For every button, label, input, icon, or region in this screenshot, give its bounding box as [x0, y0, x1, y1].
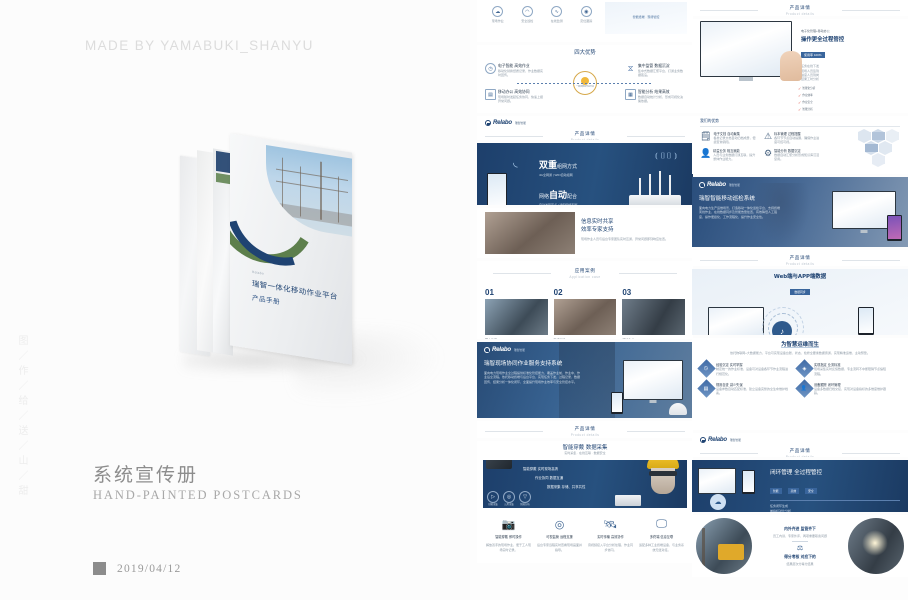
phone-mockup	[858, 307, 874, 335]
monitor-mockup	[698, 468, 736, 494]
why-item: 👤 设备跟踪 闭环管理 设备多数据归档交接，实现对设备指标的多维度维护跟踪。	[798, 382, 888, 396]
advantage-item: ▦ 智能分析 结果高效 数据自动统计分析，形成可视化决策依据。	[625, 89, 685, 104]
hexagon-decoration	[834, 122, 904, 170]
smartwear-title: 智能穿戴 数据采集	[483, 443, 687, 451]
phone-screen	[488, 174, 507, 205]
pin-icon: ◉	[581, 6, 592, 17]
page-section-header-5: Relabo 瑞智智能 产品详情 Product details	[692, 433, 908, 457]
case-photo	[622, 299, 685, 335]
headline-rest: 组网方式	[557, 164, 577, 170]
check-icon: ✓	[798, 93, 801, 98]
realtime-title: 信息实时共享 效率专家支持	[581, 218, 685, 234]
briefcase-icon: ▤	[485, 89, 496, 100]
clock-icon: ◷	[697, 360, 715, 378]
icon-label: 现场作业	[485, 19, 511, 23]
page-realtime: 信息实时共享 效率专家支持 现场作业人员与后台专家团队实时互通，异常问题即刻响应…	[477, 208, 693, 258]
date-text: 2019/04/12	[117, 563, 181, 575]
case-label: 随机巡检	[554, 338, 617, 339]
header-rule-left	[700, 10, 758, 11]
inspection-desc: 面向电力生产运维场景，打造移动一体化巡检平台，支持终端离线作业、在线数据同步及智…	[699, 206, 781, 219]
smartwear-sub: 实时采集 · 在线互联 · 数据安全	[483, 451, 687, 455]
feature-desc: 解放双手的现场作业，便于工人现场实时记录。	[486, 543, 532, 552]
check-icon: ✓	[798, 100, 801, 105]
case-item[interactable]: 02 随机巡检	[554, 288, 617, 339]
header-rule-right	[619, 273, 677, 274]
page-web-app: Web端与APP端数据 数据同步 ♪ 多端互通实时同步	[692, 269, 908, 335]
case-number: 03	[622, 288, 685, 297]
monitor-screen	[833, 192, 895, 228]
smartwear-button-label: 公用采集	[503, 503, 515, 506]
alert-icon: ⚠	[764, 131, 772, 145]
camera-device-icon	[486, 460, 512, 469]
hsse-title: 闭环管理 全过程管控	[770, 468, 900, 476]
headline2-sub: 自动发现节点 | 通知网络配置	[539, 203, 577, 205]
monitor-screen	[701, 22, 791, 76]
why-item: ◈ 实现指定 业务标准 现场采集实时反馈数据，专业流转不中断障碍节点缩短流程。	[798, 362, 888, 376]
router-antenna	[669, 175, 671, 195]
user-icon: 👤	[795, 379, 813, 397]
page-subtitle: HAND-PAINTED POSTCARDS	[93, 488, 303, 503]
feature-title: 多终端 信息互联	[639, 534, 685, 539]
monitor-stand	[650, 400, 657, 403]
router-body	[629, 195, 681, 205]
play-icon[interactable]: ▷	[487, 491, 499, 503]
brand-name: Relabo	[492, 347, 511, 353]
grid-icon: ▦	[625, 89, 636, 100]
doc-icon: ▤	[697, 379, 715, 397]
phone-mockup	[887, 215, 902, 241]
header-rule-left	[700, 453, 758, 454]
brand-name: Relabo	[707, 182, 726, 188]
brand-logo: Relabo 瑞智智能	[484, 347, 686, 353]
page-section-header-2: 产品详情 Product details	[477, 421, 693, 438]
section-header: 产品详情 Product details	[692, 0, 908, 16]
webapp-head: Web端与APP端数据	[700, 272, 900, 280]
brand-name-cn: 瑞智智能	[514, 348, 525, 352]
relabo-mark-icon	[699, 182, 705, 188]
advantage-desc: 集中式数据汇聚平台，打通业务数据孤岛。	[638, 69, 685, 78]
cover-title-line2: 产品手册	[252, 292, 280, 306]
page-our-service: 我们的优势 🗒 电子文档 自动聚集 各类记录文档自动归档成册，便捷查询调阅。 ⚠…	[692, 116, 908, 174]
brand-logo: Relabo 瑞智智能	[699, 182, 901, 188]
icon-strip-side-card: 智能终端 · 现场管控	[605, 2, 687, 34]
chart-icon[interactable]: ▽	[519, 491, 531, 503]
section-header: 产品详情 Product details	[692, 443, 908, 457]
orbit-ring	[762, 307, 804, 335]
phone-screen	[888, 216, 902, 239]
phone-screen	[612, 393, 623, 412]
dual-network-headline: 双重组网方式	[539, 155, 577, 173]
hourglass-icon: ⧖	[625, 63, 636, 74]
gear-icon: ⚙	[764, 148, 772, 162]
webapp-chip[interactable]: 数据同步	[790, 289, 809, 295]
center-label: 一体化移动作业平台	[576, 86, 594, 88]
check-tag: ✓作业效率	[798, 93, 813, 98]
icon-strip-note: 智能终端 · 现场管控	[605, 15, 687, 19]
shield-icon: ◈	[795, 360, 813, 378]
office-title-big: 操作更全过程管控	[801, 35, 900, 43]
section-header: 产品详情 Product details	[692, 250, 908, 266]
router-antenna	[649, 174, 651, 195]
smartwear-line: 智能穿戴 实时现场高清	[523, 466, 585, 471]
book-front-cover: Relabo 瑞智一体化移动作业平台 产品手册	[230, 133, 352, 364]
feature-item: 🛰 实时传输 高效协作 音视频接入平台分析处理，作业同步协同。	[588, 518, 634, 552]
cloud-icon: ☁	[492, 6, 503, 17]
brochure-column-right: 产品详情 Product details 电子化管理+移动办公 操作更全过程管控…	[692, 0, 908, 600]
check-label: 智能分析	[802, 107, 812, 111]
case-label: 调试作业	[622, 338, 685, 339]
gateway-device	[615, 495, 641, 506]
form-icon: 🗒	[700, 131, 711, 145]
brand-name-cn: 瑞智智能	[730, 438, 741, 442]
case-photo	[554, 299, 617, 335]
page-section-header-4: 产品详情 Product details	[692, 250, 908, 266]
feature-item: 📷 智能穿戴 即时操作 解放双手的现场作业，便于工人现场实时记录。	[486, 518, 532, 552]
section-header: 产品详情 Product details	[477, 421, 693, 438]
page-title: 系统宣传册	[93, 460, 198, 487]
phone-mockup	[742, 470, 755, 494]
check-icon: ✓	[798, 107, 801, 112]
header-rule-right	[842, 453, 900, 454]
bulb-icon	[581, 77, 589, 85]
why-item-desc: 现场采集实时反馈数据，专业流转不中断障碍节点缩短流程。	[814, 367, 888, 376]
vertical-decorative-text: 图／作／给／送／山／甜	[14, 335, 29, 500]
header-rule-left	[485, 431, 543, 432]
wifi-signal-icon: ◟	[513, 155, 518, 169]
cover-logo: Relabo	[252, 270, 264, 276]
page-root: MADE BY YAMABUKI_SHANYU 图／作／给／送／山／甜	[0, 0, 908, 600]
divider	[792, 541, 808, 542]
monitor-screen	[624, 361, 682, 399]
smartwear-line: 数据采集 存储、共享共性	[547, 484, 585, 489]
check-icon: ✓	[798, 86, 801, 91]
brochure-column-left: ☁ 现场作业 ◠ 安全巡检 ∿ 在线监测 ◉ 定位跟踪 智能终端 · 现场管控	[477, 0, 693, 600]
page-why-choose: 为智慧运维而生 依托物联网+大数据能力，平台可实现设备台账、状态、检修全要素数据…	[692, 338, 908, 430]
service-item: ⚠ 标本管理 过程提醒 各环节节点自动提醒，确保作业进度可控可视。	[764, 131, 822, 145]
four-advantages-title: 四大优势	[485, 48, 685, 56]
headline-big: 双重	[539, 160, 557, 170]
camera-icon: 📷	[486, 518, 532, 531]
router-antenna	[659, 171, 661, 195]
brand-name-cn: 瑞智智能	[729, 183, 740, 187]
advantage-desc: 数据自动统计分析，形成可视化决策依据。	[638, 95, 685, 104]
header-rule-left	[700, 260, 758, 261]
photo-engineers	[485, 212, 575, 254]
page-collab-system: Relabo 瑞智智能 瑞智现场协同作业服务支持系统 面向电力现场作业全过程提供…	[477, 342, 693, 418]
screen-icon: 🖵	[639, 518, 685, 531]
headline-sub: 4G全网通 | WIFI自动组网	[539, 173, 577, 177]
brand-logo: Relabo 瑞智智能	[477, 116, 693, 126]
phone-screen	[859, 308, 874, 333]
book-mockup: Relabo 瑞智一体化移动作业平台 产品手册	[175, 140, 375, 380]
why-sub: 依托物联网+大数据能力，平台可实现设备台账、状态、检修全要素数据贯通，实现精准运…	[700, 351, 900, 355]
page-hsse: ☁ 闭环管理 全过程管控 智能 高效 安全 任务闭环生成 单指标对比分析 数据汇…	[692, 460, 908, 512]
gauge-icon: ◠	[522, 6, 533, 17]
page-four-advantages: 四大优势 一体化移动作业平台 ◷ 电子智能 高效作业 移动化替换纸质记录，作业数…	[477, 45, 693, 113]
book-spine-blue-band	[216, 151, 230, 173]
smartwear-button-label: 印刷采集	[487, 503, 499, 506]
page-dual-network: ◟ 双重组网方式 4G全网通 | WIFI自动组网 网络自动配合 自动发现节点 …	[477, 143, 693, 205]
phone-mockup	[487, 173, 507, 205]
office-bullet: 结果工时分析	[801, 77, 900, 81]
smartwear-banner: 智能穿戴 实时现场高清 作业协同 数据互通 数据采集 存储、共享共性 ▷ 印刷采…	[483, 460, 687, 508]
divider	[770, 500, 900, 501]
hand-illustration	[780, 51, 802, 81]
signal-icon: 🛰	[588, 518, 634, 531]
service-item: ⚙ 智能分析 数据沉淀 数据自动汇聚分析形成知识库沉淀复用。	[764, 148, 822, 162]
header-rule-right	[627, 136, 685, 137]
feature-title: 实时传输 高效协作	[588, 534, 634, 539]
feature-desc: 音视频接入平台分析处理，作业同步协同。	[588, 543, 634, 552]
why-item-desc: 设备参数自动匹配标准，建立设备完整的全生命维护档案。	[716, 387, 790, 396]
advantage-desc: 移动化替换纸质记录，作业数据实时回传。	[498, 69, 545, 78]
section-header-en: Product details	[692, 12, 908, 16]
hsse-bullet: 单指标对比分析	[770, 509, 900, 512]
case-label: 带电检测	[485, 338, 548, 339]
date-row: 2019/04/12	[93, 562, 181, 575]
feature-desc: 适配多种工业终端设备，与业务系统无缝对接。	[639, 543, 685, 552]
dual-network-headline2: 网络自动配合	[539, 185, 577, 203]
phone-mockup	[611, 392, 623, 414]
case-item[interactable]: 03 调试作业	[622, 288, 685, 339]
feature-title: 可视监管 远程支援	[537, 534, 583, 539]
service-desc: 数据自动汇聚分析形成知识库沉淀复用。	[774, 153, 822, 162]
section-header-en: Product details	[477, 433, 693, 437]
service-desc: 各类记录文档自动归档成册，便捷查询调阅。	[713, 136, 758, 145]
case-number: 01	[485, 288, 548, 297]
router-antenna	[639, 178, 641, 195]
service-desc: 各环节节点自动提醒，确保作业进度可控可视。	[774, 136, 822, 145]
advantage-desc: 现场随时发起任务协同，快速上报异常问题。	[498, 95, 545, 104]
check-tag-group: ✓智能化分析 ✓作业效率 ✓作业安全 ✓智能分析 ✓作业管控 ✓质量跟踪 ✓现场…	[700, 86, 820, 113]
monitor-screen	[709, 308, 763, 335]
office-title-small: 电子化管理+移动办公	[801, 29, 900, 33]
check-tag: ✓智能化分析	[798, 86, 815, 91]
headline2-big: 自动	[549, 190, 567, 200]
section-header-en: Product details	[692, 455, 908, 457]
section-header: 产品详情 Product details	[477, 126, 693, 140]
smartwear-button-label: 智能分析	[519, 503, 531, 506]
headline2-pre: 网络	[539, 194, 549, 200]
case-photo	[485, 299, 548, 335]
photo-lineworker	[696, 518, 752, 574]
section-header-en: Product details	[692, 262, 908, 266]
helmet-icon	[669, 403, 687, 415]
footer-title-1: 内外齐进 监管齐下	[755, 526, 845, 532]
monitor-mockup	[700, 21, 792, 77]
date-square-marker	[93, 562, 106, 575]
feature-item: 🖵 多终端 信息互联 适配多种工业终端设备，与业务系统无缝对接。	[639, 518, 685, 552]
section-header-en: Product details	[477, 138, 693, 140]
case-item[interactable]: 01 带电检测	[485, 288, 548, 339]
cases-header-en: Application case	[485, 275, 685, 279]
icon-label: 安全巡检	[514, 19, 540, 23]
monitor-mockup	[623, 360, 683, 400]
eye-icon: ◎	[537, 518, 583, 531]
icon-label: 定位跟踪	[573, 19, 599, 23]
status-badge: 使用率 100%	[801, 52, 825, 58]
header-rule-right	[842, 10, 900, 11]
service-desc: 人员与业务数据打通互联，提升整体作业能力。	[713, 153, 758, 162]
case-number: 02	[554, 288, 617, 297]
advantage-item: ⧖ 集中监管 数据沉淀 集中式数据汇聚平台，打通业务数据孤岛。	[625, 63, 685, 78]
icon-label: 在线监测	[544, 19, 570, 23]
page-section-header-3: 产品详情 Product details	[692, 0, 908, 16]
made-by-credit: MADE BY YAMABUKI_SHANYU	[85, 38, 314, 53]
header-rule-left	[485, 136, 543, 137]
feature-title: 智能穿戴 即时操作	[486, 534, 532, 539]
header-rule-right	[627, 431, 685, 432]
hsse-chip[interactable]: 智能	[770, 488, 782, 494]
signal-bracket-icon: ⦅ ▯▯ ⦆	[655, 151, 677, 161]
collab-desc: 面向电力现场作业全过程提供标准化管控能力，覆盖作业前、作业中、作业后全流程。依托…	[484, 371, 580, 384]
worker-helmet-photo	[643, 460, 683, 506]
connector-dotline	[517, 83, 653, 84]
feature-item: ◎ 可视监管 远程支援 后台专家远程实时查看现场画面并指导。	[537, 518, 583, 552]
hsse-chip[interactable]: 高效	[788, 488, 800, 494]
check-tag: ✓作业安全	[798, 100, 813, 105]
footer-desc-2: 结果层次分等分结果	[755, 562, 845, 566]
advantage-item: ◷ 电子智能 高效作业 移动化替换纸质记录，作业数据实时回传。	[485, 63, 545, 78]
page-footer-imgs: 内外齐进 监管齐下 员工内训、专家外评、两项重要职责问题 ⚖ 得分考核 对应下的…	[692, 515, 908, 577]
share-icon[interactable]: ◎	[503, 491, 515, 503]
header-rule-left	[493, 273, 551, 274]
footer-desc-1: 员工内训、专家外评、两项重要职责问题	[755, 534, 845, 538]
page-section-header-1: Relabo 瑞智智能 产品详情 Product details	[477, 116, 693, 140]
user-icon: 👤	[700, 148, 711, 162]
page-application-cases: 应用案例 Application case 01 带电检测 02 随机巡检 03	[477, 261, 693, 339]
check-label: 作业安全	[802, 100, 812, 104]
check-label: 智能化分析	[802, 86, 815, 90]
photo-hand-tech	[848, 518, 904, 574]
page-office-platform: 电子化管理+移动办公 操作更全过程管控 使用率 100% 任务在线下发 现场人员…	[692, 19, 908, 113]
hsse-chip[interactable]: 安全	[805, 488, 817, 494]
clock-icon: ◷	[485, 63, 496, 74]
wave-icon: ∿	[551, 6, 562, 17]
brand-name-cn: 瑞智智能	[515, 121, 526, 125]
advantage-item: ▤ 移动办公 高效协同 现场随时发起任务协同，快速上报异常问题。	[485, 89, 545, 104]
why-title: 为智慧运维而生	[700, 340, 900, 348]
monitor-mockup	[708, 307, 764, 335]
brand-logo: Relabo 瑞智智能	[692, 433, 908, 443]
footer-title-2: 得分考核 对应下的	[755, 554, 845, 560]
check-label: 作业效率	[802, 93, 812, 97]
headline2-rest: 配合	[567, 194, 577, 200]
monitor-stand	[861, 230, 868, 233]
feature-desc: 后台专家远程实时查看现场画面并指导。	[537, 543, 583, 552]
service-item: 👤 精益业务 相互赋能 人员与业务数据打通互联，提升整体作业能力。	[700, 148, 758, 162]
phone-screen	[743, 471, 755, 492]
check-tag: ✓智能分析	[798, 107, 813, 112]
why-item-desc: 制定统一的作业标准，设备可对设备各环节作业流程进行规范化。	[716, 367, 790, 376]
monitor-screen	[699, 469, 735, 493]
why-item-desc: 设备多数据归档交接，实现对设备指标的多维度维护跟踪。	[814, 387, 888, 396]
monitor-stand	[739, 77, 753, 81]
section-header-cases: 应用案例 Application case	[485, 263, 685, 283]
service-item: 🗒 电子文档 自动聚集 各类记录文档自动归档成册，便捷查询调阅。	[700, 131, 758, 145]
scale-icon: ⚖	[755, 544, 845, 552]
cloud-hub-icon: ☁	[710, 494, 726, 510]
header-rule-right	[842, 260, 900, 261]
realtime-desc: 现场作业人员与后台专家团队实时互通，异常问题即刻响应处置。	[581, 237, 685, 241]
why-item: ▤ 规则自查 减少失误 设备参数自动匹配标准，建立设备完整的全生命维护档案。	[700, 382, 790, 396]
page-icon-strip: ☁ 现场作业 ◠ 安全巡检 ∿ 在线监测 ◉ 定位跟踪 智能终端 · 现场管控	[477, 0, 693, 42]
page-mobile-inspection-banner: Relabo 瑞智智能 瑞智智能移动巡检系统 面向电力生产运维场景，打造移动一体…	[692, 177, 908, 247]
why-item: ◷ 经验沉淀 实时掌握 制定统一的作业标准，设备可对设备各环节作业流程进行规范化…	[700, 362, 790, 376]
smartwear-line: 作业协同 数据互通	[535, 475, 585, 480]
relabo-mark-icon	[484, 347, 490, 353]
hero-panel: MADE BY YAMABUKI_SHANYU 图／作／给／送／山／甜	[0, 0, 470, 600]
page-smart-wear: 智能穿戴 数据采集 实时采集 · 在线互联 · 数据安全 智能穿戴 实时现场高清…	[477, 441, 693, 563]
